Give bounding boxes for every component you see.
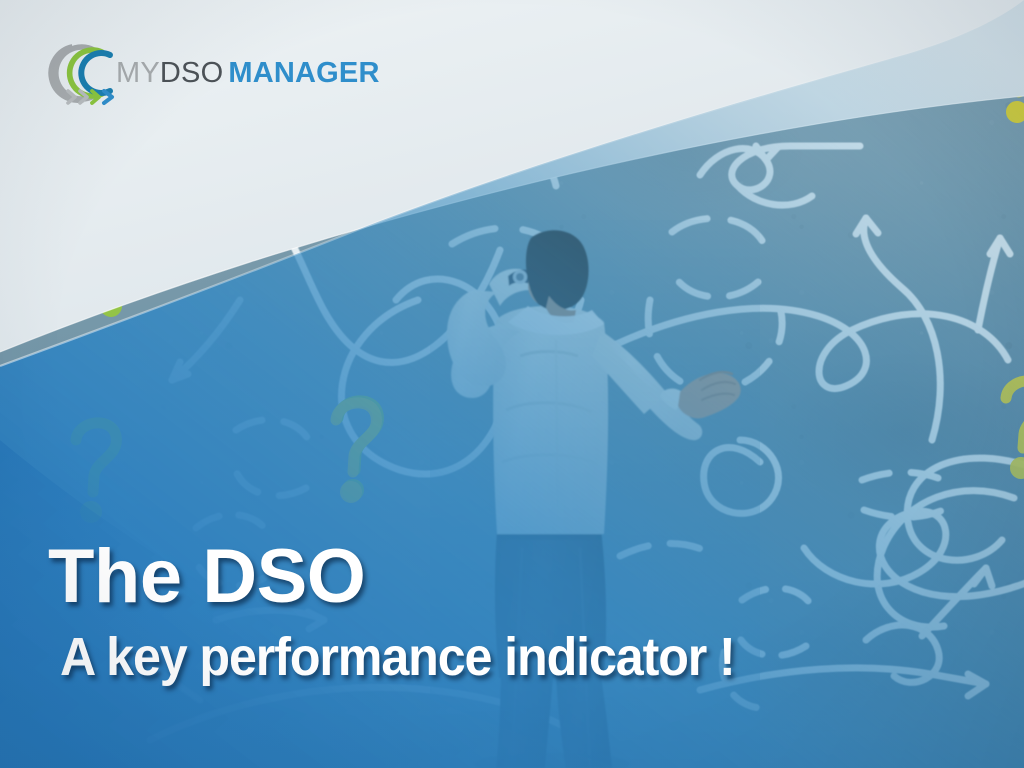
poster-canvas: MYDSOMANAGER The DSO A key performance i… bbox=[0, 0, 1024, 768]
brand-word-manager: MANAGER bbox=[228, 57, 379, 89]
brand-word-my: MY bbox=[116, 57, 160, 89]
triple-chevron-right-icon bbox=[66, 88, 124, 106]
subheadline: A key performance indicator ! bbox=[60, 630, 849, 685]
brand-wordmark: MYDSOMANAGER bbox=[116, 59, 380, 88]
brand-word-dso: DSO bbox=[160, 57, 223, 89]
title-block: The DSO A key performance indicator ! bbox=[48, 540, 908, 686]
headline: The DSO bbox=[48, 540, 908, 614]
